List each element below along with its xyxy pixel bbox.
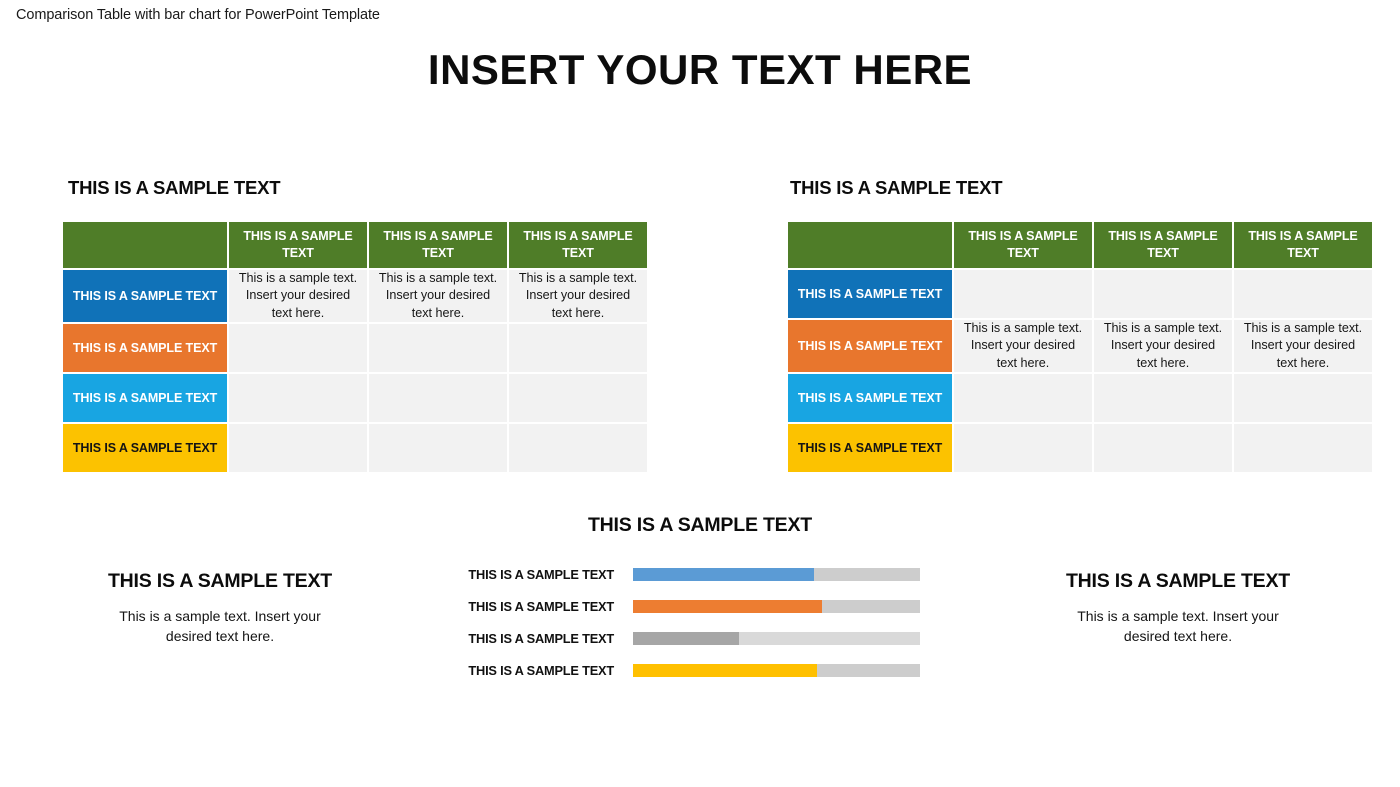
table-header-row: THIS IS A SAMPLE TEXT THIS IS A SAMPLE T… xyxy=(63,222,647,268)
row-label: THIS IS A SAMPLE TEXT xyxy=(63,270,227,322)
right-text-block: THIS IS A SAMPLE TEXT This is a sample t… xyxy=(1028,570,1328,647)
bar-fill xyxy=(633,568,814,581)
table-cell: This is a sample text. Insert your desir… xyxy=(954,320,1092,372)
right-comparison-table: THIS IS A SAMPLE TEXT THIS IS A SAMPLE T… xyxy=(786,220,1374,474)
table-cell: This is a sample text. Insert your desir… xyxy=(229,270,367,322)
chart-title: THIS IS A SAMPLE TEXT xyxy=(0,514,1400,537)
table-cell xyxy=(369,324,507,372)
column-header: THIS IS A SAMPLE TEXT xyxy=(1234,222,1372,268)
bar-chart-row: THIS IS A SAMPLE TEXT xyxy=(455,590,955,622)
table-cell: This is a sample text. Insert your desir… xyxy=(369,270,507,322)
table-cell xyxy=(954,424,1092,472)
page-caption: Comparison Table with bar chart for Powe… xyxy=(16,7,380,23)
table-cell xyxy=(229,324,367,372)
column-header: THIS IS A SAMPLE TEXT xyxy=(954,222,1092,268)
table-cell xyxy=(509,424,647,472)
right-text-title: THIS IS A SAMPLE TEXT xyxy=(1028,570,1328,593)
right-text-body: This is a sample text. Insert your desir… xyxy=(1028,606,1328,647)
bar-track xyxy=(633,568,920,581)
table-cell xyxy=(509,374,647,422)
bar-fill xyxy=(633,632,739,645)
column-header: THIS IS A SAMPLE TEXT xyxy=(369,222,507,268)
bar-track xyxy=(633,664,920,677)
column-header: THIS IS A SAMPLE TEXT xyxy=(509,222,647,268)
row-label: THIS IS A SAMPLE TEXT xyxy=(63,374,227,422)
left-text-body: This is a sample text. Insert your desir… xyxy=(70,606,370,647)
table-cell xyxy=(1094,424,1232,472)
left-table-heading: THIS IS A SAMPLE TEXT xyxy=(68,177,280,199)
left-text-block: THIS IS A SAMPLE TEXT This is a sample t… xyxy=(70,570,370,647)
table-cell xyxy=(369,374,507,422)
table-cell xyxy=(1234,374,1372,422)
bar-track xyxy=(633,632,920,645)
header-corner-cell xyxy=(63,222,227,268)
bar-chart-row: THIS IS A SAMPLE TEXT xyxy=(455,622,955,654)
bar-fill xyxy=(633,664,817,677)
table-cell xyxy=(954,374,1092,422)
table-cell: This is a sample text. Insert your desir… xyxy=(1094,320,1232,372)
table-cell xyxy=(1094,374,1232,422)
table-row: THIS IS A SAMPLE TEXT xyxy=(63,424,647,472)
bar-label: THIS IS A SAMPLE TEXT xyxy=(455,599,633,614)
table-cell xyxy=(229,424,367,472)
bar-chart-row: THIS IS A SAMPLE TEXT xyxy=(455,558,955,590)
table-cell xyxy=(229,374,367,422)
table-row: THIS IS A SAMPLE TEXT This is a sample t… xyxy=(63,270,647,322)
left-comparison-table: THIS IS A SAMPLE TEXT THIS IS A SAMPLE T… xyxy=(61,220,649,474)
table-cell xyxy=(509,324,647,372)
table-cell: This is a sample text. Insert your desir… xyxy=(509,270,647,322)
table-cell xyxy=(369,424,507,472)
table-row: THIS IS A SAMPLE TEXT xyxy=(788,270,1372,318)
row-label: THIS IS A SAMPLE TEXT xyxy=(788,374,952,422)
row-label: THIS IS A SAMPLE TEXT xyxy=(788,424,952,472)
column-header: THIS IS A SAMPLE TEXT xyxy=(229,222,367,268)
table-row: THIS IS A SAMPLE TEXT xyxy=(63,324,647,372)
table-cell xyxy=(1094,270,1232,318)
table-cell xyxy=(1234,270,1372,318)
row-label: THIS IS A SAMPLE TEXT xyxy=(63,424,227,472)
table-row: THIS IS A SAMPLE TEXT xyxy=(788,374,1372,422)
bar-label: THIS IS A SAMPLE TEXT xyxy=(455,567,633,582)
row-label: THIS IS A SAMPLE TEXT xyxy=(63,324,227,372)
table-cell: This is a sample text. Insert your desir… xyxy=(1234,320,1372,372)
table-row: THIS IS A SAMPLE TEXT xyxy=(63,374,647,422)
row-label: THIS IS A SAMPLE TEXT xyxy=(788,270,952,318)
table-cell xyxy=(954,270,1092,318)
page-title: INSERT YOUR TEXT HERE xyxy=(0,46,1400,94)
header-corner-cell xyxy=(788,222,952,268)
right-table-heading: THIS IS A SAMPLE TEXT xyxy=(790,177,1002,199)
bar-fill xyxy=(633,600,822,613)
column-header: THIS IS A SAMPLE TEXT xyxy=(1094,222,1232,268)
bar-chart-row: THIS IS A SAMPLE TEXT xyxy=(455,654,955,686)
table-row: THIS IS A SAMPLE TEXT This is a sample t… xyxy=(788,320,1372,372)
table-header-row: THIS IS A SAMPLE TEXT THIS IS A SAMPLE T… xyxy=(788,222,1372,268)
bar-track xyxy=(633,600,920,613)
left-text-title: THIS IS A SAMPLE TEXT xyxy=(70,570,370,593)
bar-chart: THIS IS A SAMPLE TEXTTHIS IS A SAMPLE TE… xyxy=(455,558,955,686)
bar-label: THIS IS A SAMPLE TEXT xyxy=(455,631,633,646)
row-label: THIS IS A SAMPLE TEXT xyxy=(788,320,952,372)
bar-label: THIS IS A SAMPLE TEXT xyxy=(455,663,633,678)
table-row: THIS IS A SAMPLE TEXT xyxy=(788,424,1372,472)
table-cell xyxy=(1234,424,1372,472)
